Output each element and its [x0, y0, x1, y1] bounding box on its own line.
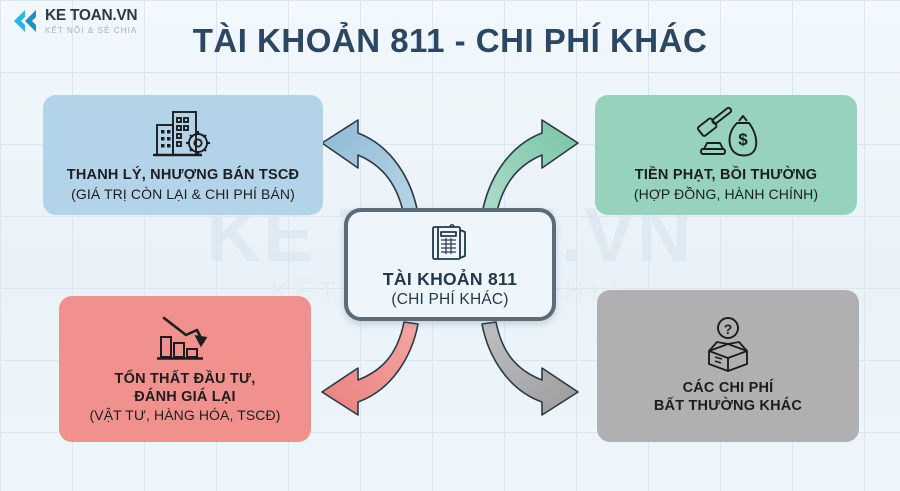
node-sub: (GIÁ TRỊ CÒN LẠI & CHI PHÍ BÁN) — [71, 186, 295, 204]
arrow-to-bottom-left — [322, 322, 418, 415]
building-gear-icon — [150, 107, 216, 161]
ledger-book-icon — [428, 221, 472, 265]
arrow-to-bottom-right — [482, 322, 578, 415]
svg-text:$: $ — [738, 130, 748, 149]
node-line2: ĐÁNH GIÁ LẠI — [134, 389, 235, 407]
node-tien-phat-boi-thuong[interactable]: $ TIỀN PHẠT, BỒI THƯỜNG (HỢP ĐỒNG, HÀNH … — [595, 95, 857, 215]
node-line2: BẤT THƯỜNG KHÁC — [654, 398, 802, 416]
node-sub: (VẬT TƯ, HÀNG HÓA, TSCĐ) — [90, 407, 281, 425]
gavel-money-bag-icon: $ — [693, 107, 759, 161]
arrow-to-top-left — [322, 120, 418, 216]
infographic-canvas: KE TOAN.VN KẾT NỐI & SẺ CHIA KE TOAN.VN … — [0, 0, 900, 491]
arrow-to-top-right — [482, 120, 578, 216]
node-line1: THANH LÝ, NHƯỢNG BÁN TSCĐ — [67, 167, 299, 185]
node-cac-chi-phi-bat-thuong-khac[interactable]: ? CÁC CHI PHÍ BẤT THƯỜNG KHÁC — [597, 290, 859, 442]
center-line2: (CHI PHÍ KHÁC) — [391, 291, 508, 309]
page-title: TÀI KHOẢN 811 - CHI PHÍ KHÁC — [0, 22, 900, 60]
svg-text:?: ? — [724, 321, 733, 337]
open-box-question-icon: ? — [697, 316, 759, 374]
node-line1: CÁC CHI PHÍ — [683, 380, 774, 398]
node-ton-that-dau-tu-danh-gia-lai[interactable]: TỔN THẤT ĐẦU TƯ, ĐÁNH GIÁ LẠI (VẬT TƯ, H… — [59, 296, 311, 442]
node-thanh-ly-nhuong-ban-tscd[interactable]: THANH LÝ, NHƯỢNG BÁN TSCĐ (GIÁ TRỊ CÒN L… — [43, 95, 323, 215]
node-sub: (HỢP ĐỒNG, HÀNH CHÍNH) — [634, 186, 818, 204]
center-line1: TÀI KHOẢN 811 — [383, 269, 517, 290]
node-line1: TỔN THẤT ĐẦU TƯ, — [115, 371, 256, 389]
node-line1: TIỀN PHẠT, BỒI THƯỜNG — [635, 167, 817, 185]
center-node-tai-khoan-811[interactable]: TÀI KHOẢN 811 (CHI PHÍ KHÁC) — [344, 208, 556, 321]
declining-bar-chart-icon — [155, 313, 215, 365]
